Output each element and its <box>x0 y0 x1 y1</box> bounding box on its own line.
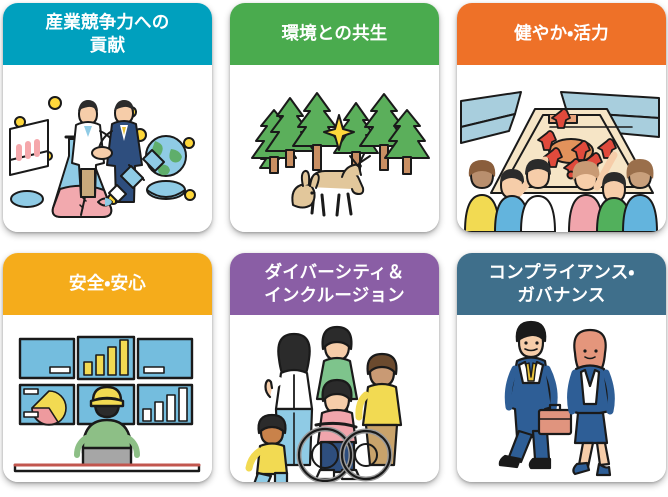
card-header-coexistence-with-environment: 環境との共生 <box>230 3 439 65</box>
card-coexistence-with-environment[interactable]: 環境との共生 <box>230 3 439 232</box>
card-diversity-and-inclusion[interactable]: ダイバーシティ＆ インクルージョン <box>230 253 439 482</box>
card-header-safety-and-security: 安全・安心 <box>3 253 212 315</box>
handshake-science-industry-illustration <box>3 65 212 232</box>
card-header-diversity-and-inclusion: ダイバーシティ＆ インクルージョン <box>230 253 439 315</box>
card-header-health-and-vitality: 健やか・活力 <box>457 3 666 65</box>
card-industrial-competitiveness[interactable]: 産業競争力への 貢献 <box>3 3 212 232</box>
material-value-card-grid: 産業競争力への 貢献 <box>0 0 668 497</box>
card-title: 産業競争力への 貢献 <box>46 11 170 57</box>
card-header-compliance-and-governance: コンプライアンス・ ガバナンス <box>457 253 666 315</box>
card-illustration-diversity-and-inclusion <box>230 315 439 482</box>
stadium-crowd-sports-illustration <box>457 65 666 232</box>
card-title: ダイバーシティ＆ インクルージョン <box>264 261 405 307</box>
card-title: 安全・安心 <box>69 272 146 295</box>
diverse-people-group-illustration <box>230 315 439 482</box>
card-title: コンプライアンス・ ガバナンス <box>488 261 634 307</box>
card-illustration-compliance-and-governance <box>457 315 666 482</box>
card-header-industrial-competitiveness: 産業競争力への 貢献 <box>3 3 212 65</box>
card-illustration-safety-and-security <box>3 315 212 482</box>
card-health-and-vitality[interactable]: 健やか・活力 <box>457 3 666 232</box>
business-people-walking-illustration <box>457 315 666 482</box>
card-compliance-and-governance[interactable]: コンプライアンス・ ガバナンス <box>457 253 666 482</box>
card-illustration-coexistence-with-environment <box>230 65 439 232</box>
card-illustration-industrial-competitiveness <box>3 65 212 232</box>
card-title: 健やか・活力 <box>514 22 609 45</box>
control-room-monitoring-illustration <box>3 315 212 482</box>
forest-wildlife-illustration <box>230 65 439 232</box>
card-title: 環境との共生 <box>281 22 387 45</box>
card-illustration-health-and-vitality <box>457 65 666 232</box>
card-safety-and-security[interactable]: 安全・安心 <box>3 253 212 482</box>
